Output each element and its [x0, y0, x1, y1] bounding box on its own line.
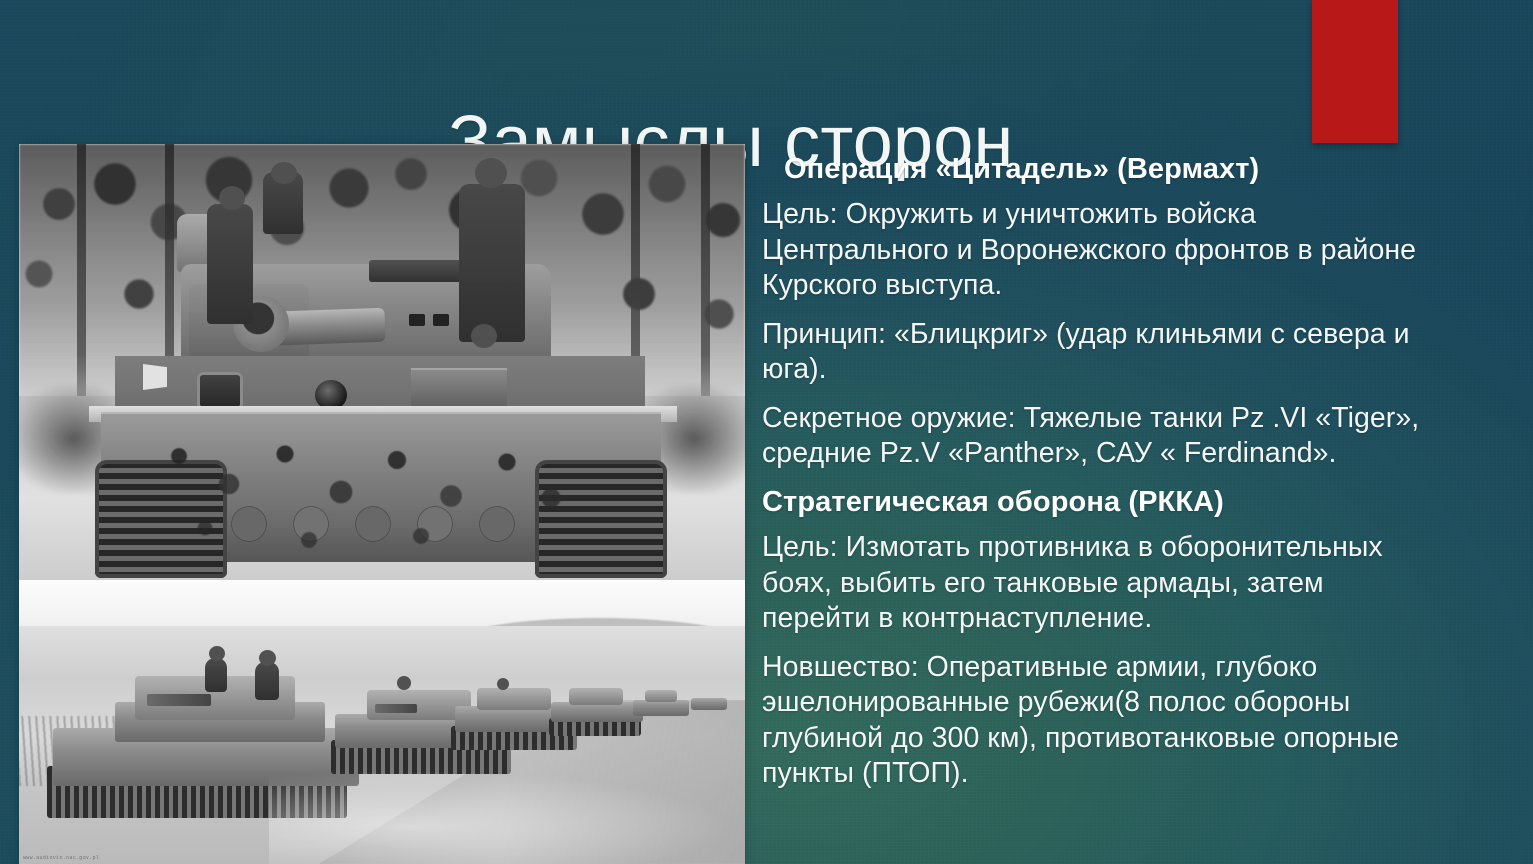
paragraph-defense-innovation: Новшество: Оперативные армии, глубоко эш… [762, 650, 1422, 792]
paragraph-defense-goal: Цель: Измотать противника в оборонительн… [762, 530, 1422, 637]
paragraph-citadel-goal: Цель: Окружить и уничтожить войска Центр… [762, 197, 1422, 304]
content-column: Операция «Цитадель» (Вермахт) Цель: Окру… [762, 152, 1422, 805]
section-heading-strategic-defense: Стратегическая оборона (РККА) [762, 485, 1422, 520]
panzer-column-photo: www.audiovis.nac.gov.pl [19, 580, 745, 864]
crew-head [219, 186, 245, 210]
unit-insignia [143, 364, 167, 390]
photo-collage: www.audiovis.nac.gov.pl [19, 144, 745, 864]
crew-member [207, 204, 253, 324]
paragraph-citadel-secret-weapon: Секретное оружие: Тяжелые танки Pz .VI «… [762, 401, 1422, 472]
section-heading-operation-citadel: Операция «Цитадель» (Вермахт) [762, 152, 1422, 187]
crew-head [271, 162, 297, 184]
presentation-slide: Замыслы сторон [0, 0, 1533, 864]
crew-member [459, 184, 525, 342]
road-dust [269, 770, 729, 864]
paragraph-citadel-principle: Принцип: «Блицкриг» (удар клиньями с сев… [762, 317, 1422, 388]
crew-head [475, 158, 507, 188]
turret-visor [409, 314, 425, 326]
red-accent-bar [1312, 0, 1398, 143]
turret-visor [433, 314, 449, 326]
crew-head [471, 324, 497, 348]
tiger-tank-photo [19, 144, 745, 580]
camouflage-foliage [159, 436, 579, 580]
driver-visor [197, 372, 243, 410]
archive-stamp: www.audiovis.nac.gov.pl [23, 855, 99, 861]
